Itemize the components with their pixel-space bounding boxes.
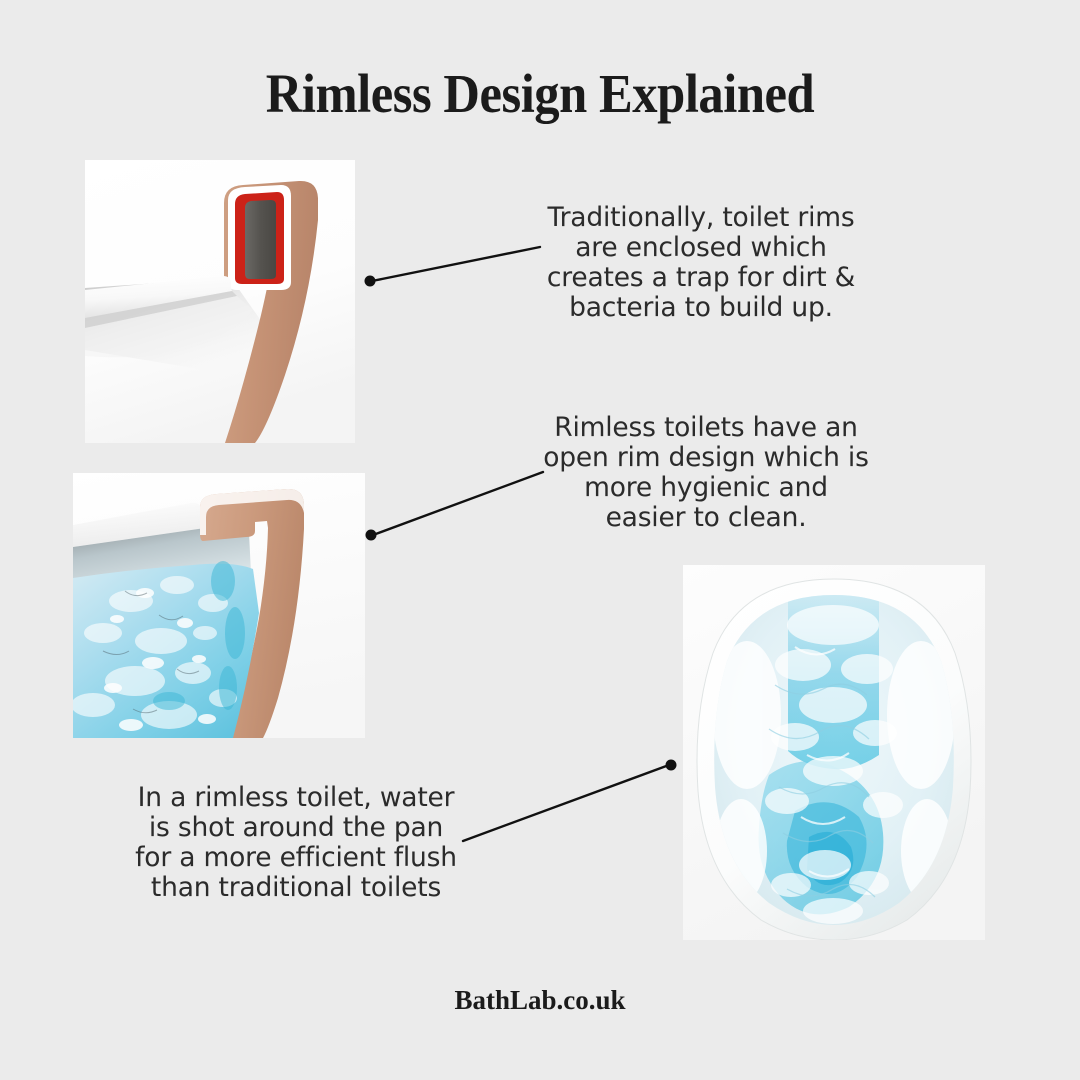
connector-line-3 xyxy=(463,765,669,841)
connector-dot-3 xyxy=(666,760,677,771)
callout-text-rimless-rim: Rimless toilets have an open rim design … xyxy=(541,413,871,533)
callout-text-rimless-flush: In a rimless toilet, water is shot aroun… xyxy=(131,783,461,903)
panel-rimless-rim-cutaway xyxy=(73,473,365,738)
traditional-rim-illustration xyxy=(85,160,355,443)
connector-line-2 xyxy=(373,472,543,535)
footer-brand: BathLab.co.uk xyxy=(0,985,1080,1016)
panel-traditional-rim-cutaway xyxy=(85,160,355,443)
infographic-canvas: Rimless Design Explained xyxy=(0,0,1080,1080)
page-title: Rimless Design Explained xyxy=(43,62,1037,125)
connector-dot-1 xyxy=(365,276,376,287)
connector-line-1 xyxy=(372,247,540,281)
panel-rimless-pan-topdown xyxy=(683,565,985,940)
rimless-pan-illustration xyxy=(683,565,985,940)
rimless-rim-illustration xyxy=(73,473,365,738)
callout-text-traditional-rim: Traditionally, toilet rims are enclosed … xyxy=(527,203,875,323)
connector-dot-2 xyxy=(366,530,377,541)
